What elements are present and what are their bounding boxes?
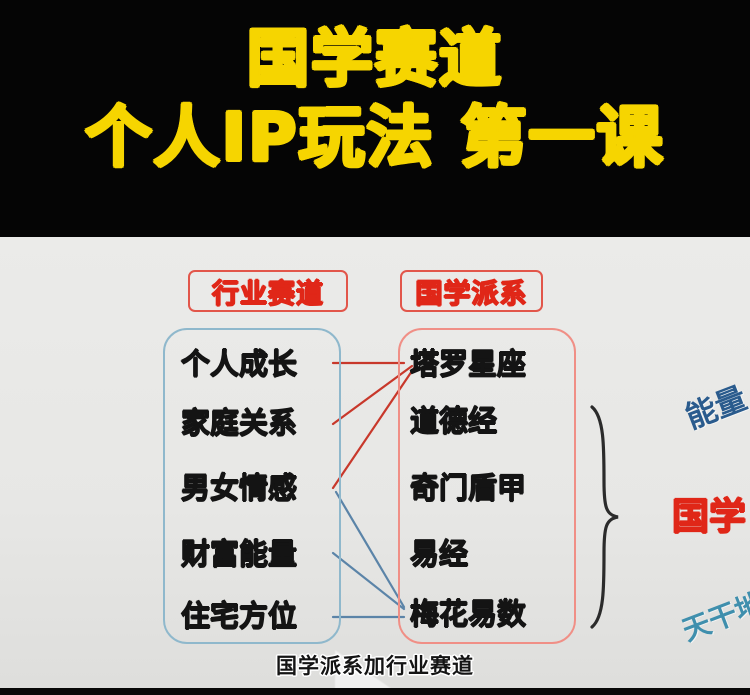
title-line-2: 个人IP玩法第一课 xyxy=(0,100,750,176)
badge-industry-track[interactable]: 行业赛道 xyxy=(188,270,348,312)
curly-brace xyxy=(588,403,622,631)
right-column-item[interactable]: 易经 xyxy=(410,538,468,570)
bottom-black-strip xyxy=(0,688,750,695)
diagram-panel xyxy=(0,237,750,688)
right-column-item[interactable]: 道德经 xyxy=(410,405,497,437)
side-label-guoxue: 国学 xyxy=(672,486,746,540)
title-banner: 国学赛道 个人IP玩法第一课 xyxy=(0,0,750,237)
right-column-item[interactable]: 梅花易数 xyxy=(410,598,526,630)
left-column-item[interactable]: 男女情感 xyxy=(181,472,297,504)
title-line-2-part-b: 第一课 xyxy=(460,99,664,176)
right-column-item[interactable]: 奇门盾甲 xyxy=(410,472,526,504)
left-column-item[interactable]: 住宅方位 xyxy=(181,600,297,632)
title-line-1: 国学赛道 xyxy=(0,24,750,94)
badge-guoxue-school[interactable]: 国学派系 xyxy=(400,270,543,312)
left-column-item[interactable]: 家庭关系 xyxy=(181,407,297,439)
left-column-item[interactable]: 个人成长 xyxy=(181,348,297,380)
screenshot-root: 国学赛道 个人IP玩法第一课 行业赛道 国学派系 个人成长家庭关系男女情感财富能… xyxy=(0,0,750,695)
title-line-2-part-a: 个人IP玩法 xyxy=(86,99,435,176)
left-column-item[interactable]: 财富能量 xyxy=(181,538,297,570)
diagram-caption: 国学派系加行业赛道 xyxy=(0,650,750,680)
right-column-item[interactable]: 塔罗星座 xyxy=(410,348,526,380)
